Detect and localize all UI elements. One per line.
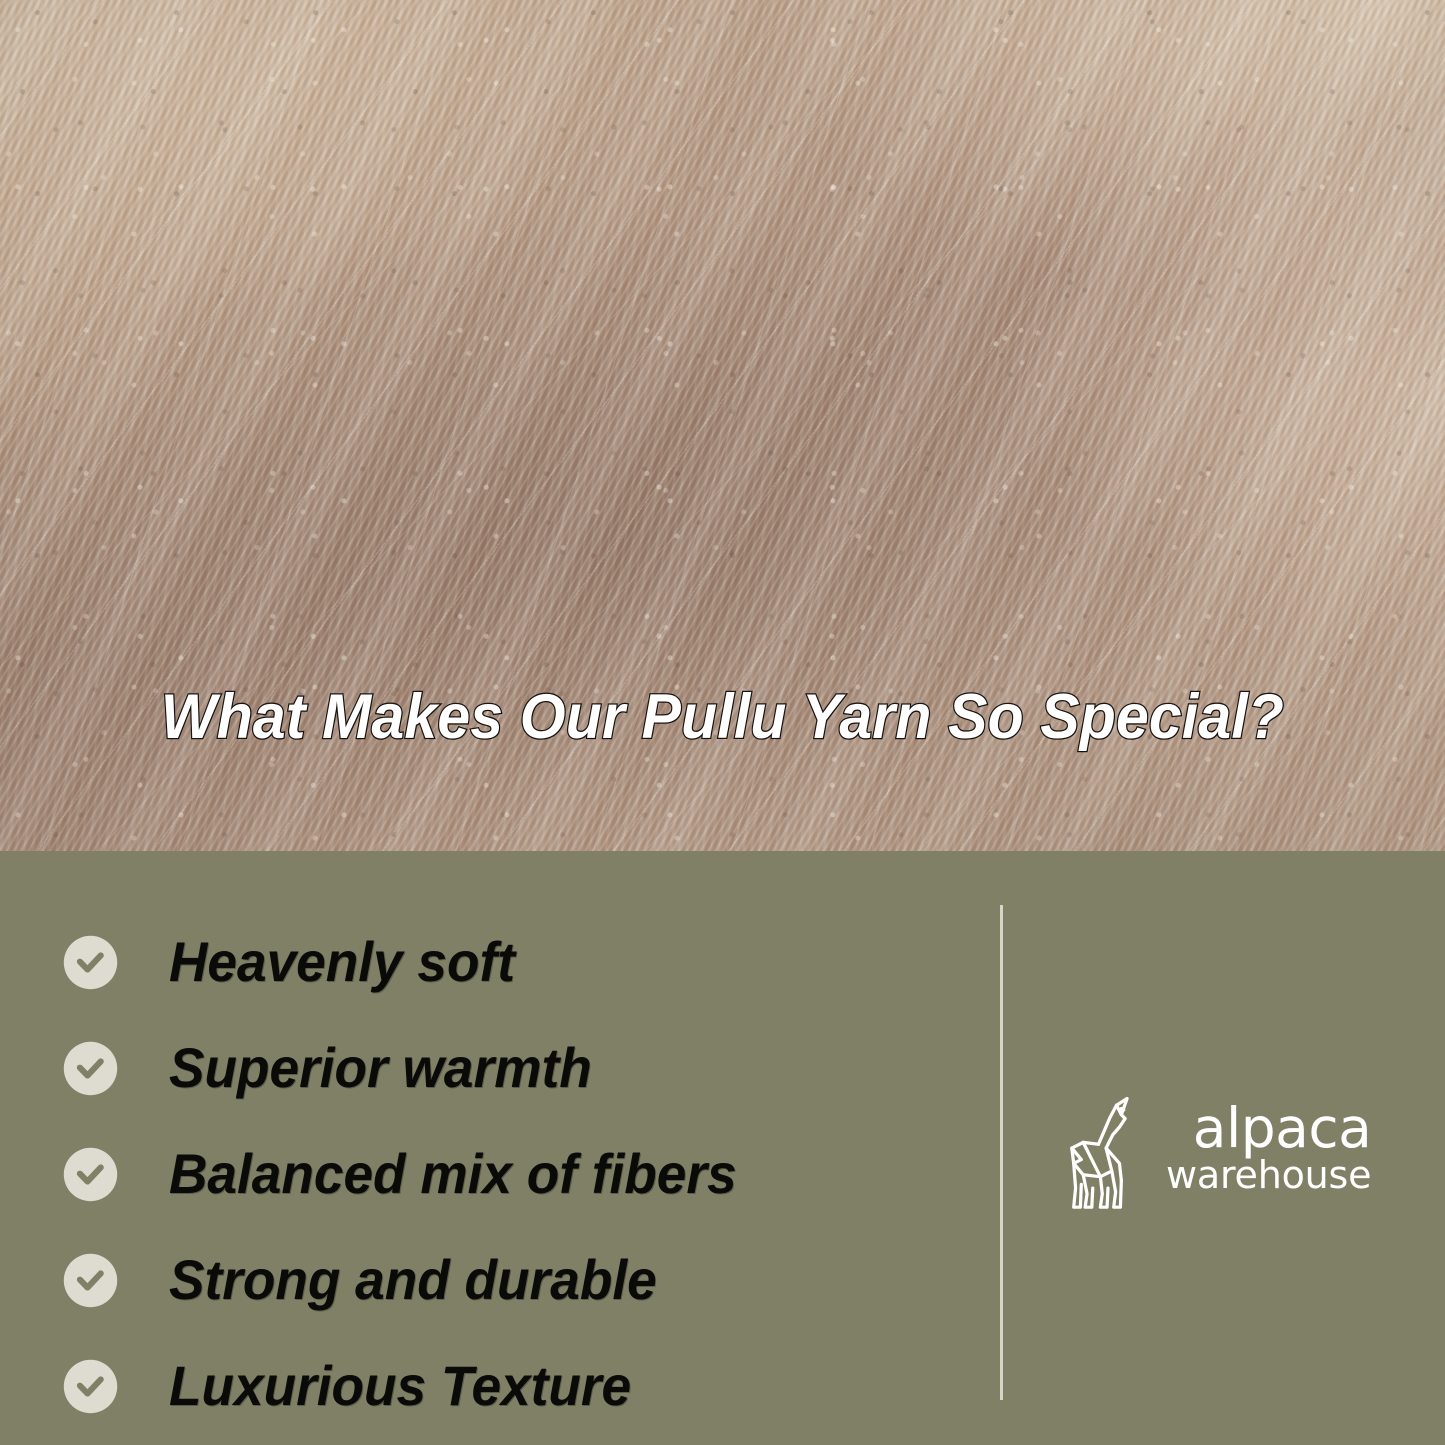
feature-list: Heavenly soft Superior warmth Balanced m…	[62, 909, 942, 1439]
alpaca-line-art-icon	[1062, 1089, 1154, 1211]
list-item: Heavenly soft	[62, 909, 942, 1015]
list-item-label: Balanced mix of fibers	[169, 1146, 737, 1202]
list-item-label: Superior warmth	[169, 1040, 592, 1096]
page-title: What Makes Our Pullu Yarn So Special?	[47, 686, 1398, 749]
list-item: Luxurious Texture	[62, 1333, 942, 1439]
brand-logo: alpaca warehouse	[1062, 1087, 1367, 1212]
list-item-label: Strong and durable	[169, 1252, 657, 1308]
check-circle-icon	[62, 1358, 119, 1415]
list-item-label: Luxurious Texture	[169, 1358, 631, 1414]
panel-divider	[1000, 905, 1003, 1400]
list-item: Strong and durable	[62, 1227, 942, 1333]
list-item-label: Heavenly soft	[169, 934, 515, 990]
infographic-canvas: What Makes Our Pullu Yarn So Special? He…	[0, 0, 1445, 1445]
list-item: Balanced mix of fibers	[62, 1121, 942, 1227]
brand-name-secondary: warehouse	[1166, 1155, 1371, 1196]
check-circle-icon	[62, 934, 119, 991]
brand-name-primary: alpaca	[1193, 1103, 1372, 1154]
brand-wordmark: alpaca warehouse	[1166, 1103, 1371, 1197]
list-item: Superior warmth	[62, 1015, 942, 1121]
yarn-texture-photo: What Makes Our Pullu Yarn So Special?	[0, 0, 1445, 851]
check-circle-icon	[62, 1040, 119, 1097]
check-circle-icon	[62, 1252, 119, 1309]
check-circle-icon	[62, 1146, 119, 1203]
